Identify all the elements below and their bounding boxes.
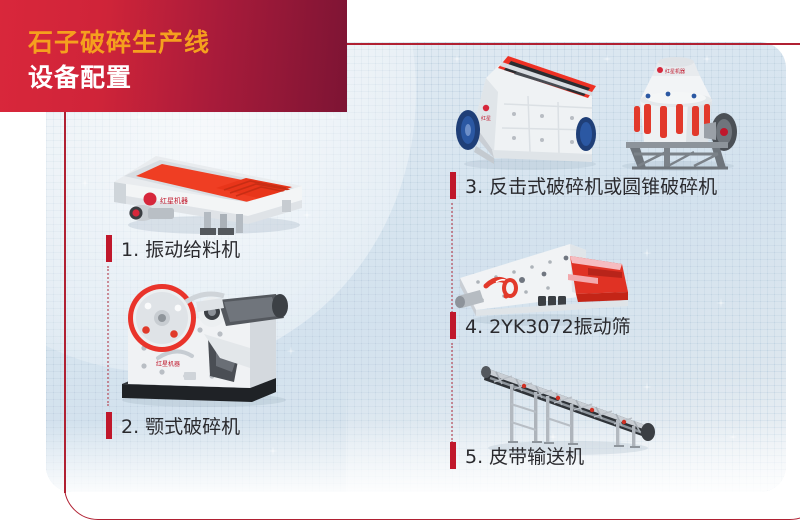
- sparkle-icon: [132, 110, 146, 124]
- label-item-3-text: 3. 反击式破碎机或圆锥破碎机: [465, 172, 717, 199]
- sparkle-icon: [326, 110, 340, 124]
- label-item-5-text: 5. 皮带输送机: [465, 442, 584, 469]
- sparkle-icon: [714, 296, 728, 310]
- sparkle-icon: [726, 430, 740, 444]
- banner-title-line1: 石子破碎生产线: [28, 23, 210, 59]
- sparkle-icon: [640, 246, 654, 260]
- connector-line-4-5: [451, 343, 453, 443]
- machine-impact-crusher: 红星: [442, 46, 612, 171]
- label-accent-bar: [450, 312, 456, 339]
- svg-text:红星机器: 红星机器: [156, 360, 180, 368]
- machine-vibrating-feeder: 红星机器: [96, 124, 316, 236]
- machine-jaw-crusher: 红星机器: [100, 272, 310, 408]
- label-accent-bar: [106, 412, 112, 439]
- sparkle-icon: [352, 490, 366, 504]
- svg-text:红星: 红星: [481, 115, 491, 122]
- label-accent-bar: [450, 442, 456, 469]
- label-item-5: 5. 皮带输送机: [450, 442, 584, 469]
- infographic-stage: 红星机器 1. 振动给料机: [0, 0, 800, 530]
- sparkle-icon: [78, 176, 92, 190]
- sparkle-icon: [266, 444, 280, 458]
- label-item-4-text: 4. 2YK3072振动筛: [465, 312, 631, 339]
- connector-line-1-2: [107, 266, 109, 406]
- machine-cone-crusher: 红星机器: [608, 46, 746, 171]
- label-item-2: 2. 颚式破碎机: [106, 412, 240, 439]
- header-banner: 石子破碎生产线 设备配置: [0, 0, 347, 112]
- svg-text:红星机器: 红星机器: [160, 196, 188, 205]
- svg-text:红星机器: 红星机器: [665, 68, 685, 75]
- label-accent-bar: [106, 235, 112, 262]
- label-item-2-text: 2. 颚式破碎机: [121, 412, 240, 439]
- banner-title-line2: 设备配置: [28, 58, 132, 94]
- label-item-3: 3. 反击式破碎机或圆锥破碎机: [450, 172, 717, 199]
- label-item-1: 1. 振动给料机: [106, 235, 240, 262]
- label-item-1-text: 1. 振动给料机: [121, 235, 240, 262]
- label-item-4: 4. 2YK3072振动筛: [450, 312, 631, 339]
- connector-line-3-4: [451, 203, 453, 313]
- label-accent-bar: [450, 172, 456, 199]
